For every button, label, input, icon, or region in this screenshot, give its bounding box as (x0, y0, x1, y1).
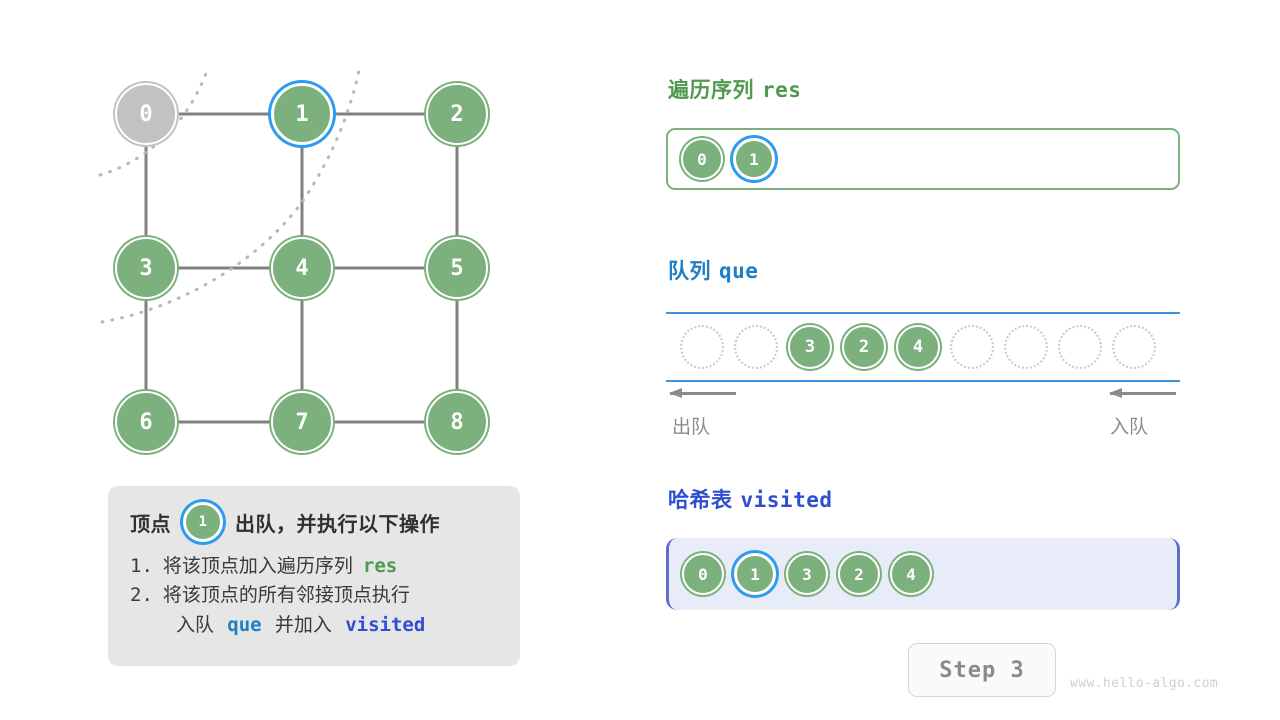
queue-slot-empty-0 (680, 325, 724, 369)
graph-node-3: 3 (115, 237, 177, 299)
visited-item-2: 2 (838, 553, 880, 595)
info-step-2-code-que: que (227, 614, 261, 636)
info-step-2-code-visited: visited (345, 614, 425, 636)
visited-item-4: 4 (890, 553, 932, 595)
queue-slot-empty-5 (950, 325, 994, 369)
visited-section-title: 哈希表visited (668, 484, 833, 514)
info-step-2-text-enqueue: 入队 (176, 615, 214, 636)
queue-slot-empty-1 (734, 325, 778, 369)
queue-slot-filled-4: 4 (896, 325, 940, 369)
info-head-suffix: 出队，并执行以下操作 (235, 508, 440, 537)
info-head-prefix: 顶点 (130, 508, 171, 537)
queue-title-cn: 队列 (668, 260, 711, 283)
graph-node-6: 6 (115, 391, 177, 453)
res-item-1: 1 (733, 138, 775, 180)
visited-container: 01324 (666, 538, 1180, 610)
queue-slot-empty-6 (1004, 325, 1048, 369)
info-step-1: 1. 将该顶点加入遍历序列 res (130, 552, 502, 581)
info-step-1-number: 1. (130, 552, 153, 581)
res-section-title: 遍历序列res (668, 74, 801, 104)
res-item-0: 0 (681, 138, 723, 180)
info-headline: 顶点 1 出队，并执行以下操作 (130, 502, 502, 542)
visited-item-3: 3 (786, 553, 828, 595)
queue-slot-filled-2: 2 (842, 325, 886, 369)
watermark: www.hello-algo.com (1070, 676, 1218, 691)
queue-section-title: 队列que (668, 255, 758, 285)
enqueue-label: 入队 (1110, 412, 1148, 439)
queue-slot-filled-3: 3 (788, 325, 832, 369)
queue-slots: 324 (680, 312, 1156, 382)
graph-node-8: 8 (426, 391, 488, 453)
info-step-2: 2. 将该顶点的所有邻接顶点执行 (130, 581, 502, 610)
graph-node-7: 7 (271, 391, 333, 453)
info-step-1-code-res: res (363, 552, 397, 581)
queue-arrows (666, 386, 1180, 406)
visited-title-cn: 哈希表 (668, 489, 733, 512)
info-step-2-text: 将该顶点的所有邻接顶点执行 (163, 581, 410, 610)
info-step-2-number: 2. (130, 581, 153, 610)
info-step-1-text: 将该顶点加入遍历序列 (163, 552, 353, 581)
step-badge: Step 3 (908, 643, 1056, 697)
enqueue-arrow-icon (1110, 392, 1176, 395)
res-title-cn: 遍历序列 (668, 79, 754, 102)
info-step-2-continued: 入队 que 并加入 visited (130, 611, 502, 640)
graph-node-4: 4 (271, 237, 333, 299)
queue-slot-empty-7 (1058, 325, 1102, 369)
visited-item-1: 1 (734, 553, 776, 595)
graph-panel: 012345678 (0, 0, 600, 480)
slide-canvas: 012345678 顶点 1 出队，并执行以下操作 1. 将该顶点加入遍历序列 … (0, 0, 1280, 720)
res-title-code: res (762, 78, 801, 102)
visited-title-code: visited (741, 488, 833, 512)
dequeue-arrow-icon (670, 392, 736, 395)
visited-item-0: 0 (682, 553, 724, 595)
graph-node-2: 2 (426, 83, 488, 145)
graph-node-0: 0 (115, 83, 177, 145)
queue-slot-empty-8 (1112, 325, 1156, 369)
state-panels: 遍历序列res 01 队列que 324 出队 入队 哈希表visited 01… (666, 0, 1226, 720)
operation-info-box: 顶点 1 出队，并执行以下操作 1. 将该顶点加入遍历序列 res 2. 将该顶… (108, 486, 520, 666)
info-step-2-text-add: 并加入 (275, 615, 332, 636)
graph-node-5: 5 (426, 237, 488, 299)
graph-node-1: 1 (271, 83, 333, 145)
info-head-vertex-chip: 1 (183, 502, 223, 542)
queue-container: 324 (666, 312, 1180, 382)
queue-title-code: que (719, 259, 758, 283)
res-container: 01 (666, 128, 1180, 190)
dequeue-label: 出队 (672, 412, 710, 439)
